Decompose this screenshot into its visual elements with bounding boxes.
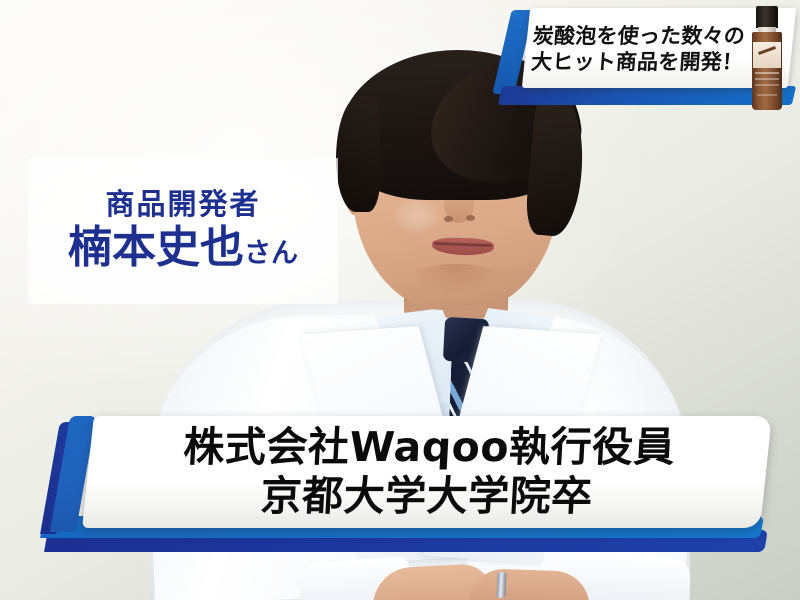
nostril-left [444,216,453,222]
top-callout: 炭酸泡を使った数々の 大ヒット商品を開発！ [492,8,794,104]
subject-name-text: 楠本史也 [68,222,244,273]
bottle-text-line-1 [755,72,779,74]
bottom-banner: 株式会社Waqoo執行役員 京都大学大学院卒 [42,412,768,572]
chin-shadow [408,264,504,294]
top-callout-line-2: 大ヒット商品を開発！ [530,50,744,74]
product-bottle [750,6,784,110]
promo-banner-image: 炭酸泡を使った数々の 大ヒット商品を開発！ 商品開発者 楠本史也さん 株式会社W… [0,0,800,600]
top-callout-line-1: 炭酸泡を使った数々の [532,24,746,48]
bottle-cap [756,6,778,28]
hair-side-left [336,96,380,212]
subject-name-suffix: さん [244,238,298,269]
bottle-text-line-4 [757,94,777,96]
subject-role: 商品開発者 [105,189,260,221]
bottom-banner-line-2: 京都大学大学院卒 [259,472,594,521]
finger-ring [496,572,506,598]
top-callout-text: 炭酸泡を使った数々の 大ヒット商品を開発！ [529,13,784,85]
cheek-highlight [390,196,444,236]
subject-name: 楠本史也さん [68,223,298,272]
bottle-label [753,42,781,68]
bottom-banner-line-1: 株式会社Waqoo執行役員 [182,423,676,472]
bottom-banner-text: 株式会社Waqoo執行役員 京都大学大学院卒 [95,420,760,524]
bottle-text-line-3 [755,84,779,86]
nostril-right [466,215,475,221]
bottle-text-line-2 [755,78,779,80]
name-block: 商品開発者 楠本史也さん [28,158,338,304]
